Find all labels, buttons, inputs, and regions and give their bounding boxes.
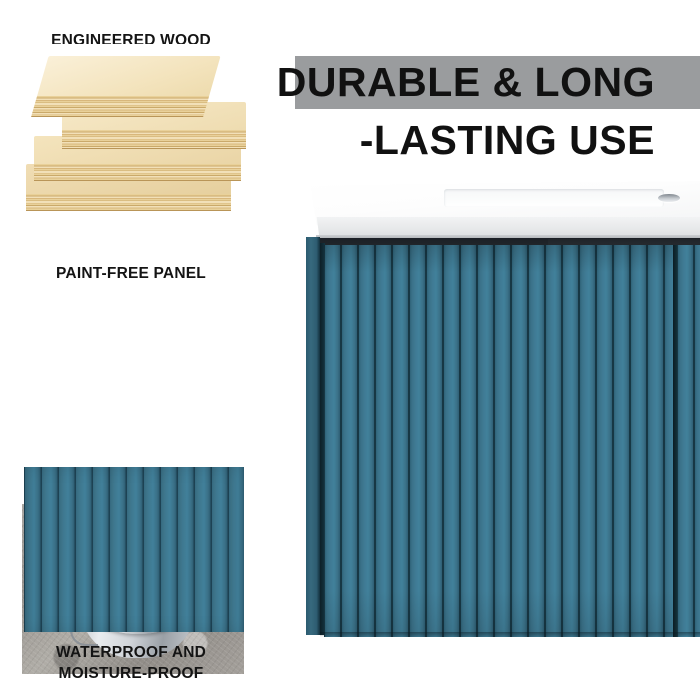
plywood-stack-image (18, 44, 246, 224)
caption-paint-free-panel: PAINT-FREE PANEL (0, 264, 262, 284)
cabinet-left-side-panel (306, 237, 320, 635)
feature-paint-free-panel: PAINT-FREE PANEL (0, 252, 262, 284)
cabinet-right-panel (677, 245, 700, 637)
headline-line-1: DURABLE & LONG (277, 56, 655, 109)
plywood-sheet-1 (31, 56, 220, 116)
cabinet-bottom-shadow (320, 632, 700, 637)
product-vanity-image (296, 175, 700, 640)
sink-basin (444, 189, 664, 207)
faucet-hole (658, 194, 680, 202)
fluted-panel-swatch-image (24, 467, 244, 632)
headline-line-2: -LASTING USE (360, 112, 655, 168)
caption-waterproof-line-1: WATERPROOF AND (0, 643, 262, 663)
feature-engineered-wood: ENGINEERED WOOD (0, 22, 262, 51)
feature-waterproof: WATERPROOF AND MOISTURE-PROOF (0, 467, 262, 684)
cabinet-fluted-door (324, 245, 673, 637)
infographic-page: DURABLE & LONG -LASTING USE (0, 0, 700, 700)
caption-waterproof-line-2: MOISTURE-PROOF (0, 664, 262, 684)
fluted-texture (24, 467, 244, 632)
